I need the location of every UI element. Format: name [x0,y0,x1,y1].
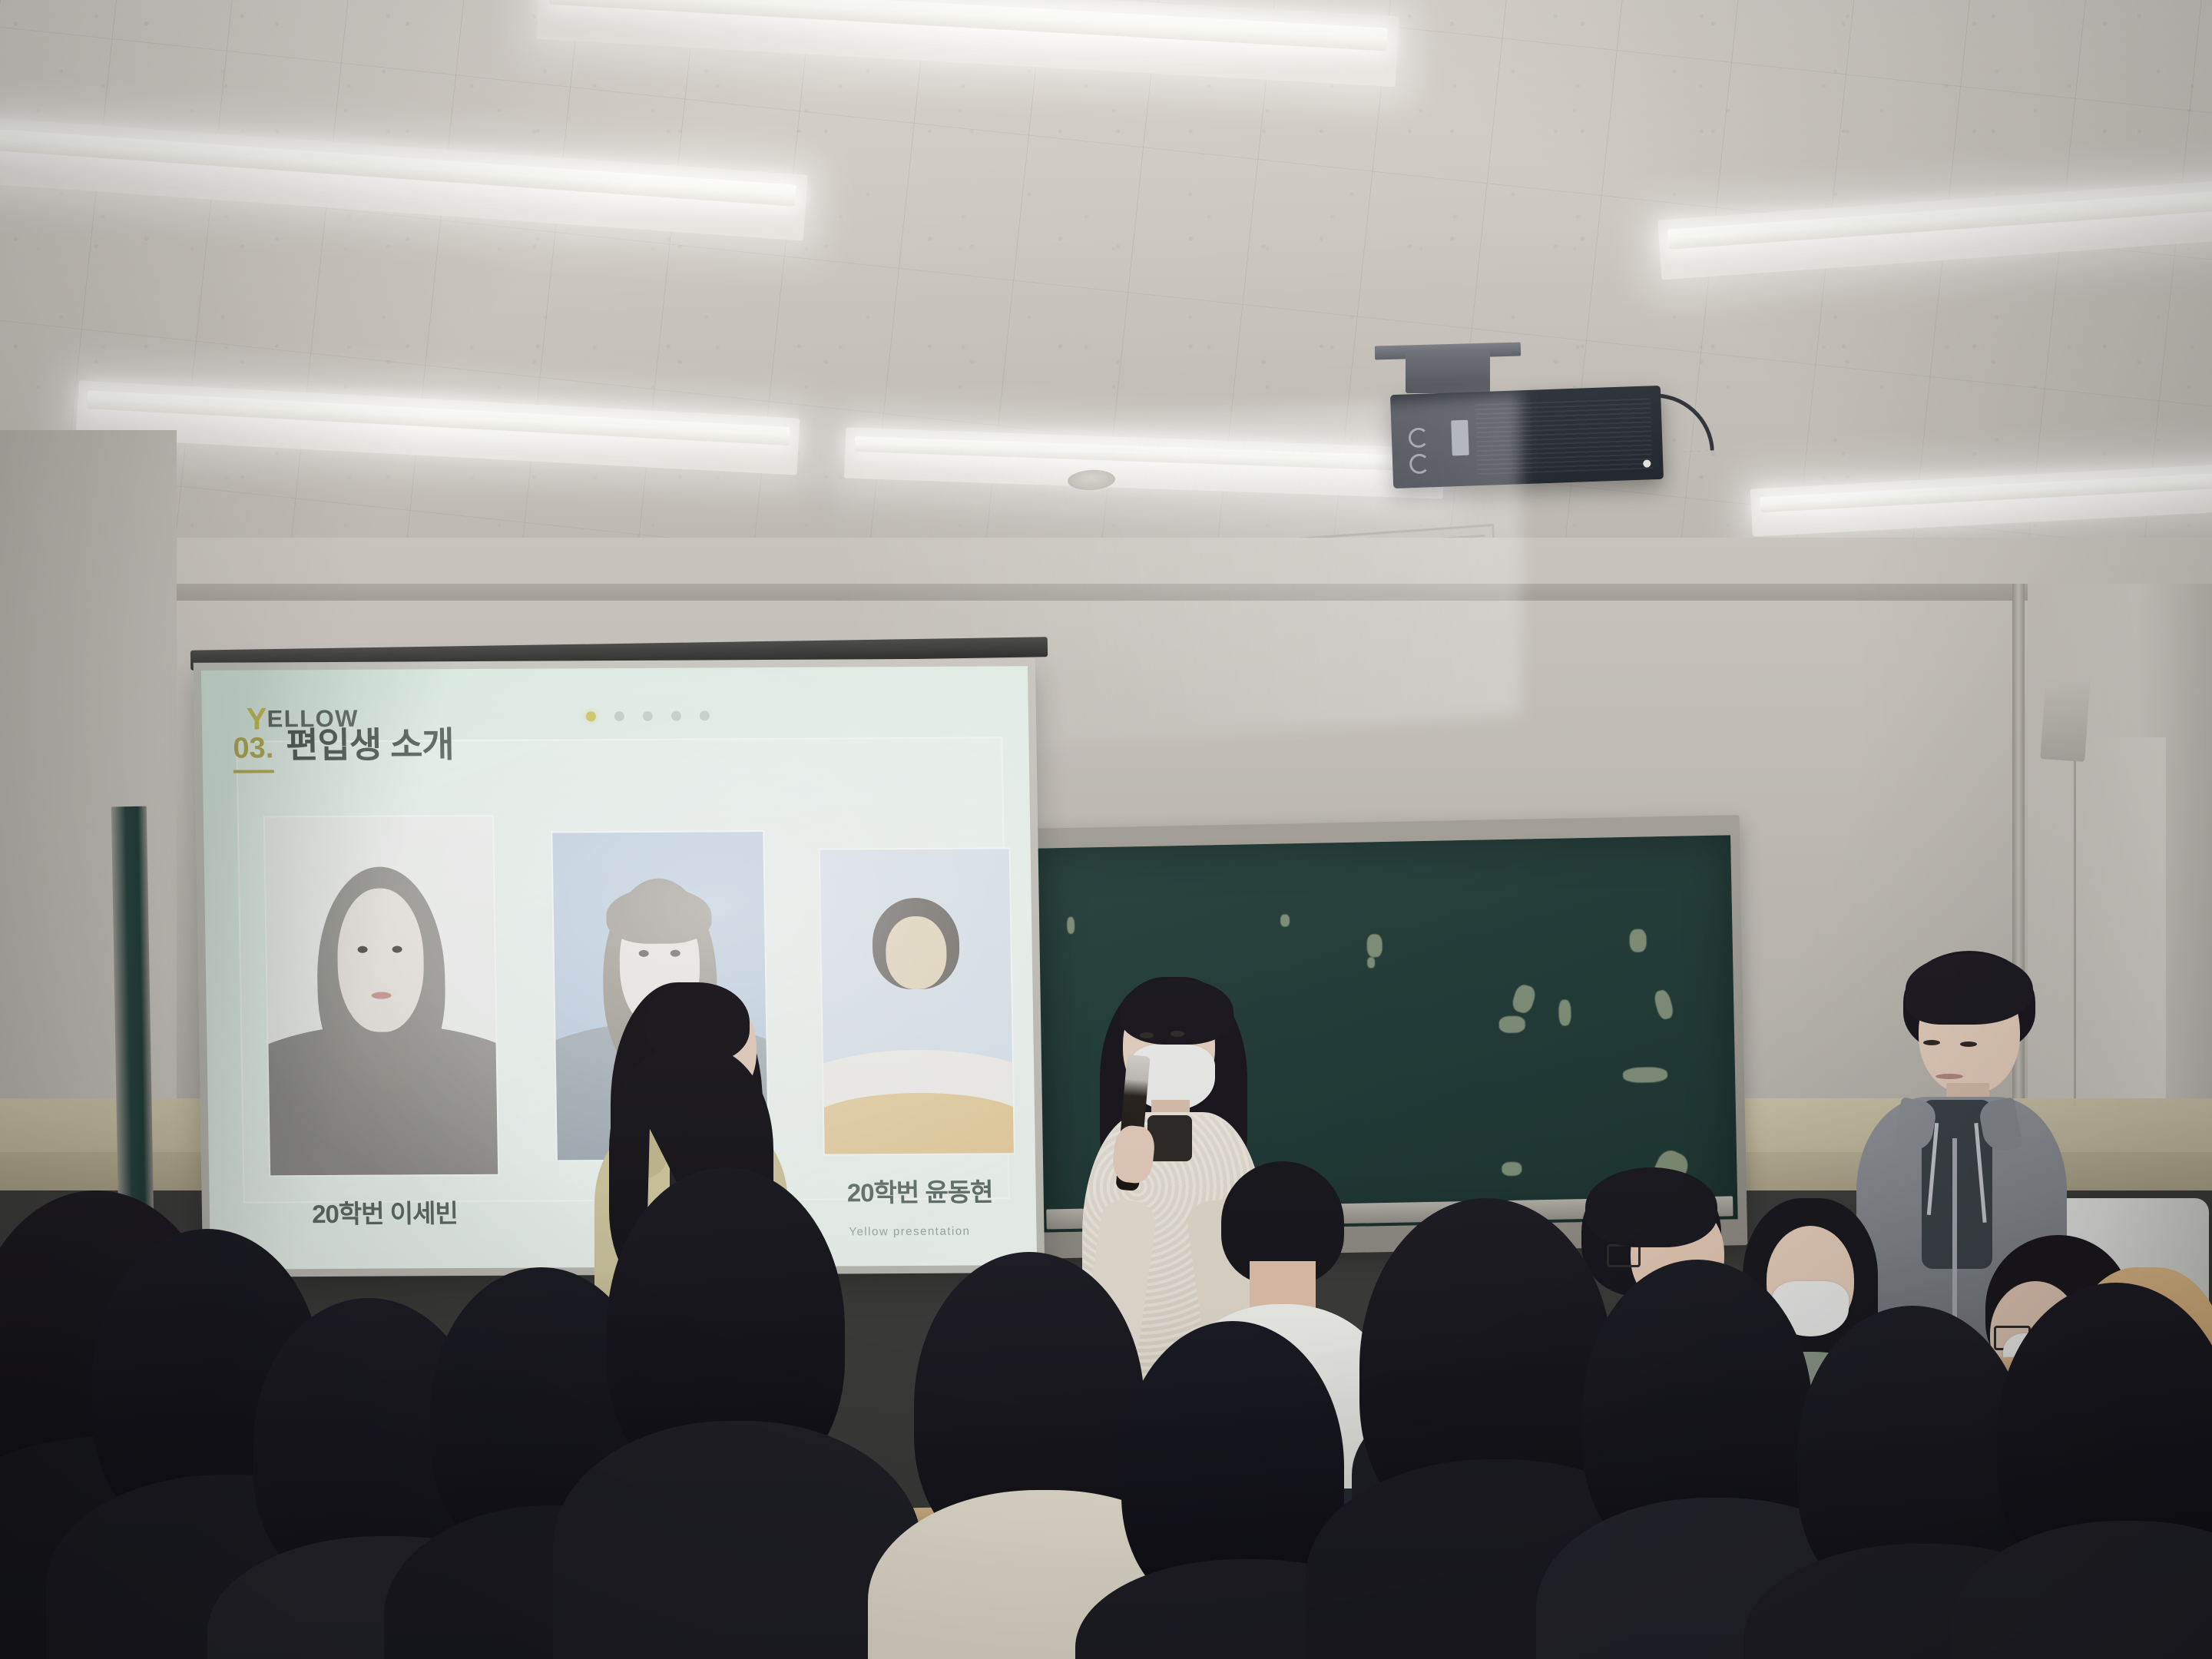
ceiling-light-fixture [844,427,1445,498]
foreground-audience-row [0,1075,2212,1659]
presenter-right-eye [1923,1040,1940,1045]
slide-dot-2[interactable] [614,711,624,721]
wall-soffit-edge [0,584,2212,601]
ceiling-projector [1390,386,1664,488]
slide-section-number: 03. [233,732,274,773]
ceiling-light-fixture [1750,463,2212,536]
slide-dot-5[interactable] [700,710,710,720]
presenter-center-eye [1140,1032,1154,1038]
presenter-right-fringe [1906,954,2033,1025]
lecture-hall-photo: YELLOW 03. 편입생 소개 20학번 이세빈20학번 윤동현 Yello… [0,0,2212,1659]
audience-shoulders-front [553,1421,922,1659]
right-wall-door [2074,737,2166,1106]
projector-mount-arm [1406,350,1490,393]
slide-title-group: 03. 편입생 소개 [233,717,454,773]
presenter-center-eye [1171,1031,1184,1037]
slide-progress-dots [586,710,710,721]
presenter-right-eye [1960,1041,1977,1047]
slide-dot-4[interactable] [671,711,681,721]
slide-section-title: 편입생 소개 [286,717,454,768]
slide-dot-3[interactable] [643,711,653,721]
slide-dot-1[interactable] [586,711,596,721]
wall-speaker-icon [2040,674,2091,762]
